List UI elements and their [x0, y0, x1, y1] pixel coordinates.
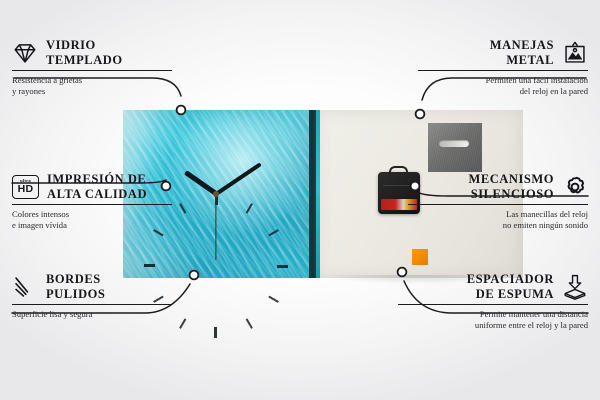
callout-desc-line1: Resistencia a grietas: [12, 75, 172, 86]
callout-title-line2: SILENCIOSO: [468, 187, 554, 202]
clock-second-hand: [215, 194, 216, 260]
callout-manejas-metal: MANEJAS METAL Permiten una fácil instala…: [418, 38, 588, 96]
callout-desc-line1: Superficie lisa y segura: [12, 309, 172, 320]
clock-tick: [246, 318, 253, 329]
callout-vidrio-templado: VIDRIO TEMPLADO Resistencia a grietas y …: [12, 38, 172, 96]
clock-tick: [215, 194, 218, 205]
callout-impresion-alta-calidad: ultra HD IMPRESIÓN DE ALTA CALIDAD Color…: [12, 172, 172, 230]
foam-spacer: [412, 249, 428, 265]
callout-title-line1: VIDRIO: [46, 38, 123, 53]
clock-tick: [246, 203, 253, 214]
clock-center-cap: [213, 191, 219, 197]
clock-tick: [144, 264, 155, 267]
metal-hanger-plate: [428, 123, 482, 172]
gear-icon: [562, 174, 588, 200]
clock-tick: [179, 318, 186, 329]
callout-header: BORDES PULIDOS: [12, 272, 172, 301]
callout-desc-line1: Colores intensos: [12, 209, 172, 220]
callout-rule: [408, 204, 588, 205]
callout-title-line1: ESPACIADOR: [467, 272, 554, 287]
callout-header: VIDRIO TEMPLADO: [12, 38, 172, 67]
callout-title-line2: ALTA CALIDAD: [47, 187, 147, 202]
mechanism-hanging-loop: [389, 166, 408, 175]
callout-desc-line1: Permite mantener una distancia: [398, 309, 588, 320]
callout-mecanismo-silencioso: MECANISMO SILENCIOSO Las manecillas del …: [408, 172, 588, 230]
callout-title-line2: DE ESPUMA: [467, 287, 554, 302]
callout-desc-line2: uniforme entre el reloj y la pared: [398, 320, 588, 331]
callout-espaciador-de-espuma: ESPACIADOR DE ESPUMA Permite mantener un…: [398, 272, 588, 330]
diamond-icon: [12, 40, 38, 66]
clock-tick: [277, 265, 288, 268]
callout-header: ultra HD IMPRESIÓN DE ALTA CALIDAD: [12, 172, 172, 201]
callout-title-line2: METAL: [490, 53, 554, 68]
clock-tick: [268, 229, 279, 236]
polished-edges-icon: [12, 274, 38, 300]
hanger-slot: [439, 140, 469, 147]
callout-rule: [398, 304, 588, 305]
callout-title-line2: TEMPLADO: [46, 53, 123, 68]
callout-desc-line1: Permiten una fácil instalación: [418, 75, 588, 86]
callout-title-line1: MECANISMO: [468, 172, 554, 187]
clock-tick: [179, 203, 186, 214]
callout-title-line1: MANEJAS: [490, 38, 554, 53]
callout-desc-line2: y rayones: [12, 86, 172, 97]
callout-rule: [12, 204, 172, 205]
picture-frame-hanger-icon: [562, 40, 588, 66]
ultra-hd-icon-main-text: HD: [18, 184, 34, 195]
callout-title-line1: IMPRESIÓN DE: [47, 172, 147, 187]
callout-rule: [12, 70, 172, 71]
callout-header: MECANISMO SILENCIOSO: [408, 172, 588, 201]
callout-bordes-pulidos: BORDES PULIDOS Superficie lisa y segura: [12, 272, 172, 320]
callout-desc-line1: Las manecillas del reloj: [408, 209, 588, 220]
ultra-hd-icon: ultra HD: [12, 175, 39, 199]
callout-title-line2: PULIDOS: [46, 287, 105, 302]
callout-rule: [418, 70, 588, 71]
callout-header: MANEJAS METAL: [418, 38, 588, 67]
callout-title-line1: BORDES: [46, 272, 105, 287]
clock-tick: [268, 296, 279, 303]
callout-rule: [12, 304, 172, 305]
glass-edge: [309, 110, 316, 278]
clock-tick: [214, 327, 217, 338]
callout-desc-line2: e imagen vívida: [12, 220, 172, 231]
callout-desc-line2: del reloj en la pared: [418, 86, 588, 97]
clock-hour-hand: [183, 170, 217, 196]
infographic-canvas: VIDRIO TEMPLADO Resistencia a grietas y …: [0, 0, 600, 400]
callout-desc-line2: no emiten ningún sonido: [408, 220, 588, 231]
foam-spacer-icon: [562, 274, 588, 300]
callout-header: ESPACIADOR DE ESPUMA: [398, 272, 588, 301]
clock-minute-hand: [215, 162, 262, 195]
